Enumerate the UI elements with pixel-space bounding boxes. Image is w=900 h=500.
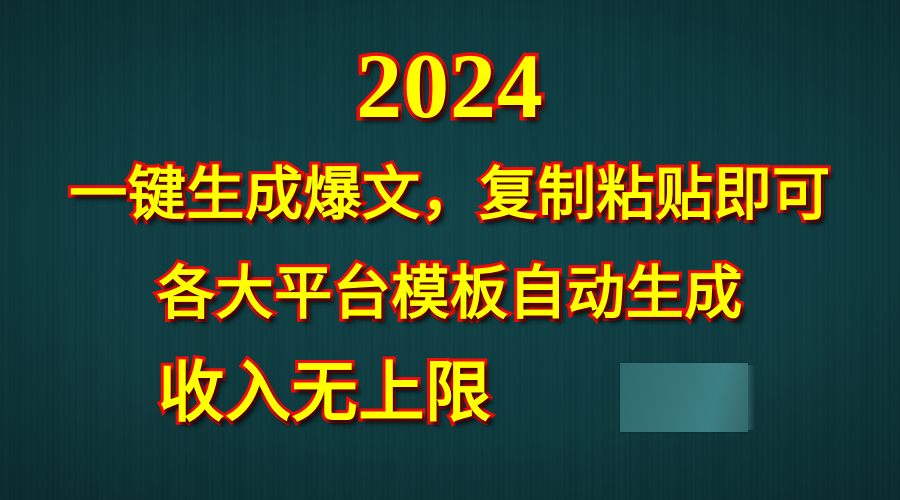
headline-text-layer: 2024 一键生成爆文，复制粘贴即可 各大平台模板自动生成 收入无上限 — [0, 0, 900, 500]
headline-line-3: 收入无上限 — [0, 358, 900, 428]
promo-poster: 2024 一键生成爆文，复制粘贴即可 各大平台模板自动生成 收入无上限 — [0, 0, 900, 500]
headline-line-2: 各大平台模板自动生成 — [0, 262, 900, 324]
headline-year: 2024 — [0, 38, 900, 134]
redaction-block — [620, 363, 748, 432]
headline-line-1: 一键生成爆文，复制粘贴即可 — [0, 163, 900, 225]
